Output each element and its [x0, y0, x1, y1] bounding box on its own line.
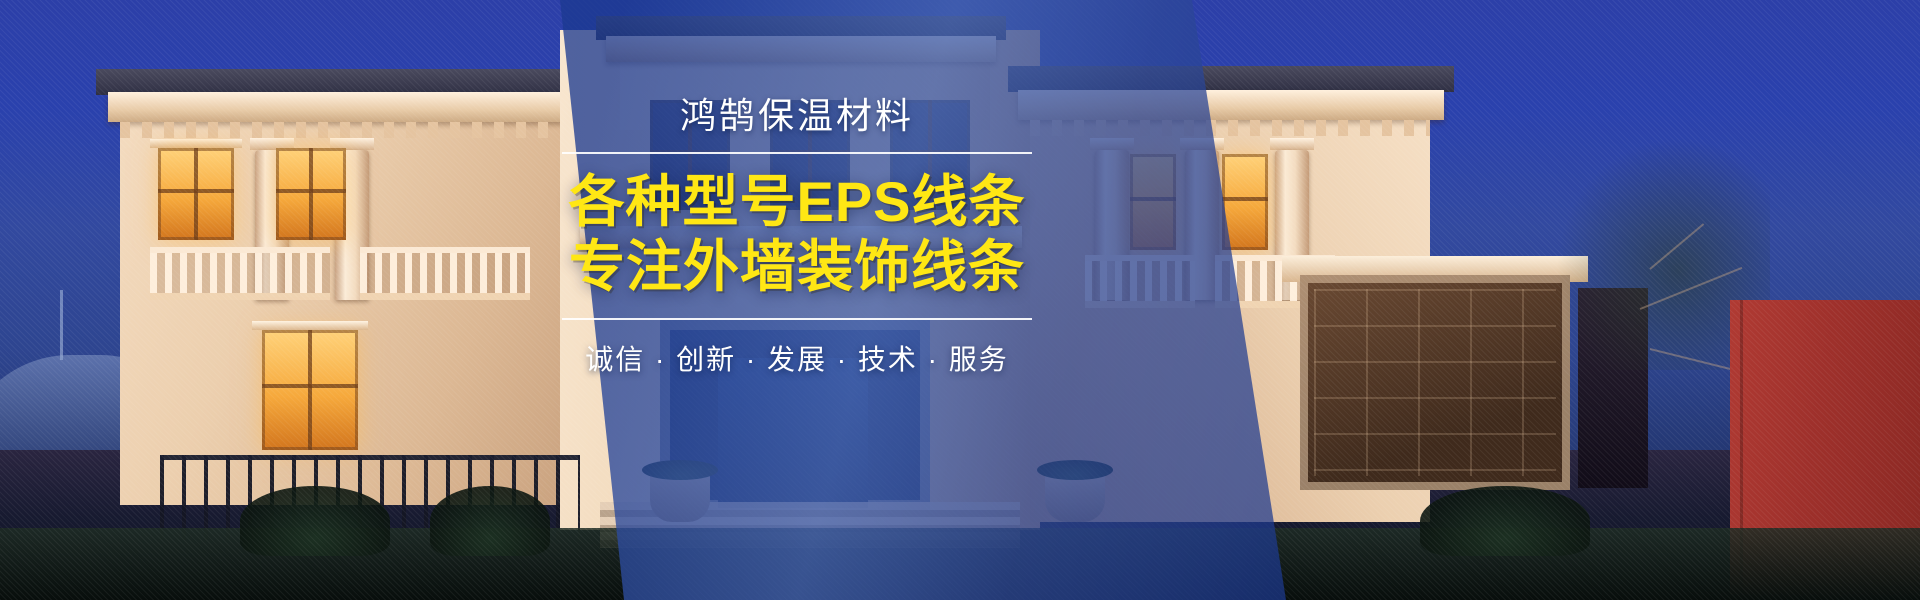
- tagline: 诚信 · 创新 · 发展 · 技术 · 服务: [562, 338, 1032, 378]
- window-mullion: [308, 330, 312, 450]
- planter: [650, 474, 710, 522]
- balustrade: [150, 247, 330, 300]
- divider-bottom: [562, 318, 1032, 320]
- window-lit: [276, 148, 346, 240]
- dentils-right: [1030, 120, 1430, 136]
- window-hood: [150, 139, 242, 148]
- garage-door: [1300, 275, 1570, 490]
- planter: [1045, 474, 1105, 522]
- cornice-center: [606, 36, 996, 62]
- distant-mast: [60, 290, 63, 360]
- window-mullion: [276, 189, 346, 193]
- balustrade: [360, 247, 530, 300]
- headline: 各种型号EPS线条 专注外墙装饰线条: [562, 170, 1032, 300]
- brand-name: 鸿鹄保温材料: [562, 96, 1032, 136]
- hero-banner: 鸿鹄保温材料 各种型号EPS线条 专注外墙装饰线条 诚信 · 创新 · 发展 ·…: [0, 0, 1920, 600]
- column-capital: [1180, 138, 1224, 150]
- balustrade: [1085, 255, 1195, 308]
- dentils-left: [120, 122, 590, 138]
- window-lit: [1130, 154, 1176, 250]
- banner-content: 鸿鹄保温材料 各种型号EPS线条 专注外墙装饰线条 诚信 · 创新 · 发展 ·…: [562, 96, 1032, 378]
- window-lit: [158, 148, 234, 240]
- window-mullion: [309, 148, 313, 240]
- headline-line-2: 专注外墙装饰线条: [562, 235, 1032, 300]
- shrub: [240, 486, 390, 556]
- column-capital: [1270, 138, 1314, 150]
- window-hood: [252, 321, 368, 330]
- shrub: [430, 486, 550, 556]
- window-mullion: [1222, 197, 1268, 201]
- cornice-right: [1018, 90, 1444, 120]
- column-capital: [1090, 138, 1134, 150]
- window-mullion: [262, 384, 358, 388]
- roof-right: [1008, 66, 1454, 92]
- shrub: [1420, 486, 1590, 556]
- window-mullion: [194, 148, 198, 240]
- divider-top: [562, 152, 1032, 154]
- headline-line-1: 各种型号EPS线条: [562, 170, 1032, 235]
- window-lit: [1222, 154, 1268, 250]
- window-mullion: [158, 189, 234, 193]
- window-lit: [262, 330, 358, 450]
- entry-door: [718, 358, 868, 508]
- cornice-left: [108, 92, 604, 122]
- window-mullion: [1130, 197, 1176, 201]
